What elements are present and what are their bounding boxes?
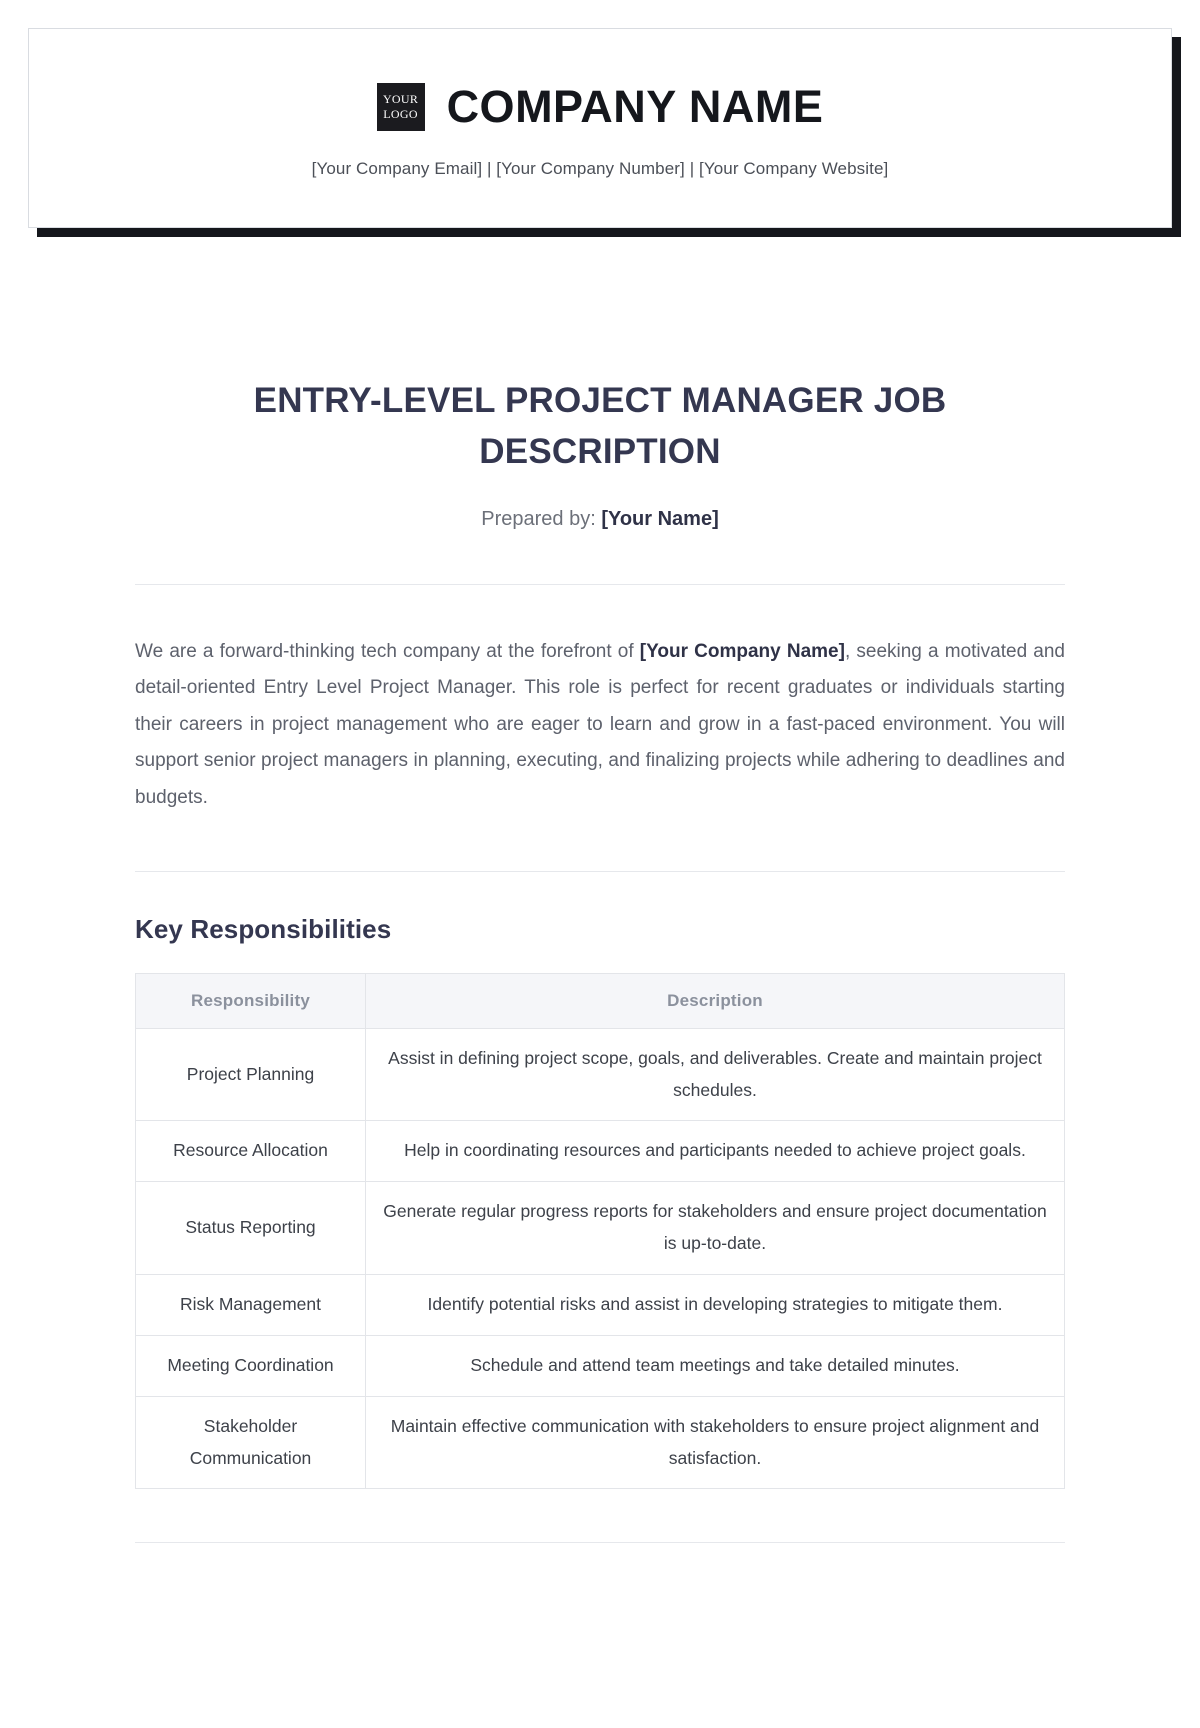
column-header-responsibility: Responsibility: [136, 973, 366, 1028]
logo-line-2: LOGO: [383, 107, 418, 122]
cell-responsibility: Meeting Coordination: [136, 1335, 366, 1396]
table-row: Project Planning Assist in defining proj…: [136, 1028, 1065, 1121]
cell-responsibility: Project Planning: [136, 1028, 366, 1121]
company-name: COMPANY NAME: [447, 81, 824, 133]
cell-responsibility: Stakeholder Communication: [136, 1396, 366, 1489]
table-row: Stakeholder Communication Maintain effec…: [136, 1396, 1065, 1489]
brand-row: YOUR LOGO COMPANY NAME: [377, 81, 824, 133]
table-row: Meeting Coordination Schedule and attend…: [136, 1335, 1065, 1396]
section-title-key-responsibilities: Key Responsibilities: [135, 914, 1065, 945]
prepared-by-label: Prepared by:: [481, 508, 596, 530]
table-header-row: Responsibility Description: [136, 973, 1065, 1028]
cell-description: Maintain effective communication with st…: [366, 1396, 1065, 1489]
key-responsibilities-table: Responsibility Description Project Plann…: [135, 973, 1065, 1490]
letterhead: YOUR LOGO COMPANY NAME [Your Company Ema…: [28, 28, 1172, 228]
cell-responsibility: Risk Management: [136, 1275, 366, 1336]
table-row: Risk Management Identify potential risks…: [136, 1275, 1065, 1336]
prepared-by: Prepared by: [Your Name]: [135, 508, 1065, 531]
cell-responsibility: Status Reporting: [136, 1182, 366, 1275]
document-body: ENTRY-LEVEL PROJECT MANAGER JOB DESCRIPT…: [135, 228, 1065, 1543]
intro-part-2: , seeking a motivated and detail-oriente…: [135, 641, 1065, 809]
column-header-description: Description: [366, 973, 1065, 1028]
table-row: Status Reporting Generate regular progre…: [136, 1182, 1065, 1275]
cell-responsibility: Resource Allocation: [136, 1121, 366, 1182]
letterhead-panel: YOUR LOGO COMPANY NAME [Your Company Ema…: [28, 28, 1172, 228]
cell-description: Generate regular progress reports for st…: [366, 1182, 1065, 1275]
prepared-by-value: [Your Name]: [601, 508, 718, 530]
cell-description: Schedule and attend team meetings and ta…: [366, 1335, 1065, 1396]
cell-description: Help in coordinating resources and parti…: [366, 1121, 1065, 1182]
company-contact-line: [Your Company Email] | [Your Company Num…: [312, 159, 889, 179]
page-title: ENTRY-LEVEL PROJECT MANAGER JOB DESCRIPT…: [145, 376, 1055, 478]
your-logo-icon: YOUR LOGO: [377, 83, 425, 131]
divider-middle: [135, 871, 1065, 872]
divider-bottom: [135, 1542, 1065, 1543]
table-row: Resource Allocation Help in coordinating…: [136, 1121, 1065, 1182]
intro-paragraph: We are a forward-thinking tech company a…: [135, 634, 1065, 817]
logo-line-1: YOUR: [383, 92, 418, 107]
intro-company-placeholder: [Your Company Name]: [640, 641, 845, 662]
cell-description: Assist in defining project scope, goals,…: [366, 1028, 1065, 1121]
cell-description: Identify potential risks and assist in d…: [366, 1275, 1065, 1336]
divider-top: [135, 584, 1065, 585]
intro-part-1: We are a forward-thinking tech company a…: [135, 641, 640, 662]
